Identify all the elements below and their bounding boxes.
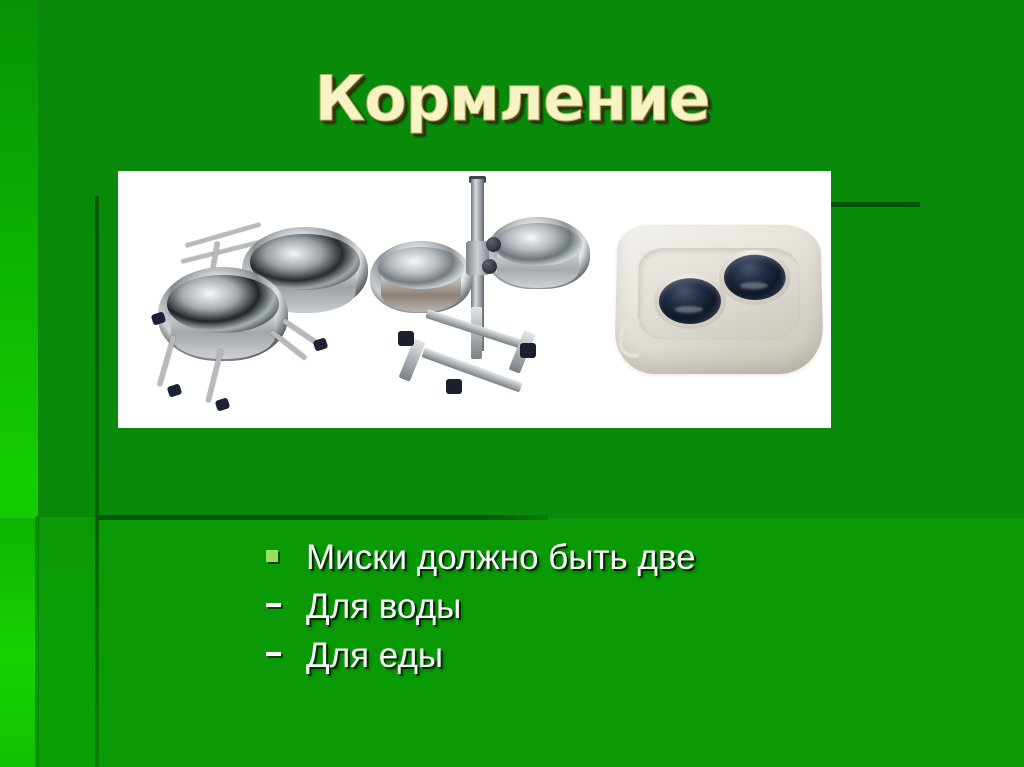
vertical-divider-line [95, 196, 99, 767]
product-plastic-tray [616, 213, 826, 389]
horizontal-divider-line-top [828, 202, 920, 207]
horizontal-divider-line-middle [96, 515, 548, 520]
bowl-upper-right [486, 217, 590, 289]
background-left-accent-lower [0, 518, 38, 767]
page-title: Кормление [0, 62, 1024, 135]
tray-bowl-left [653, 273, 726, 329]
picture-panel [118, 171, 831, 428]
photo-stage [118, 171, 831, 428]
product-adjustable-stand [368, 179, 598, 419]
vertical-divider-line-secondary [35, 516, 39, 767]
bowl-front [158, 267, 288, 361]
slide: Кормление [0, 0, 1024, 767]
background-mid-column [38, 517, 96, 767]
bullet-text: Миски должно быть две [306, 536, 696, 580]
bullet-text: Для еды [306, 634, 443, 678]
bullet-text: Для воды [306, 585, 461, 629]
tray-body [614, 225, 824, 374]
list-item: Для еды [266, 634, 966, 678]
bowl-lower-left [370, 241, 472, 313]
bullet-square-marker [266, 536, 306, 562]
bullet-dash-marker [266, 634, 306, 656]
tray-bowl-right [719, 250, 791, 305]
product-twin-bowls-wire-stand [146, 219, 376, 409]
bullet-list: Миски должно быть две Для воды Для еды [266, 536, 966, 682]
list-item: Для воды [266, 585, 966, 629]
list-item: Миски должно быть две [266, 536, 966, 580]
bullet-dash-marker [266, 585, 306, 607]
